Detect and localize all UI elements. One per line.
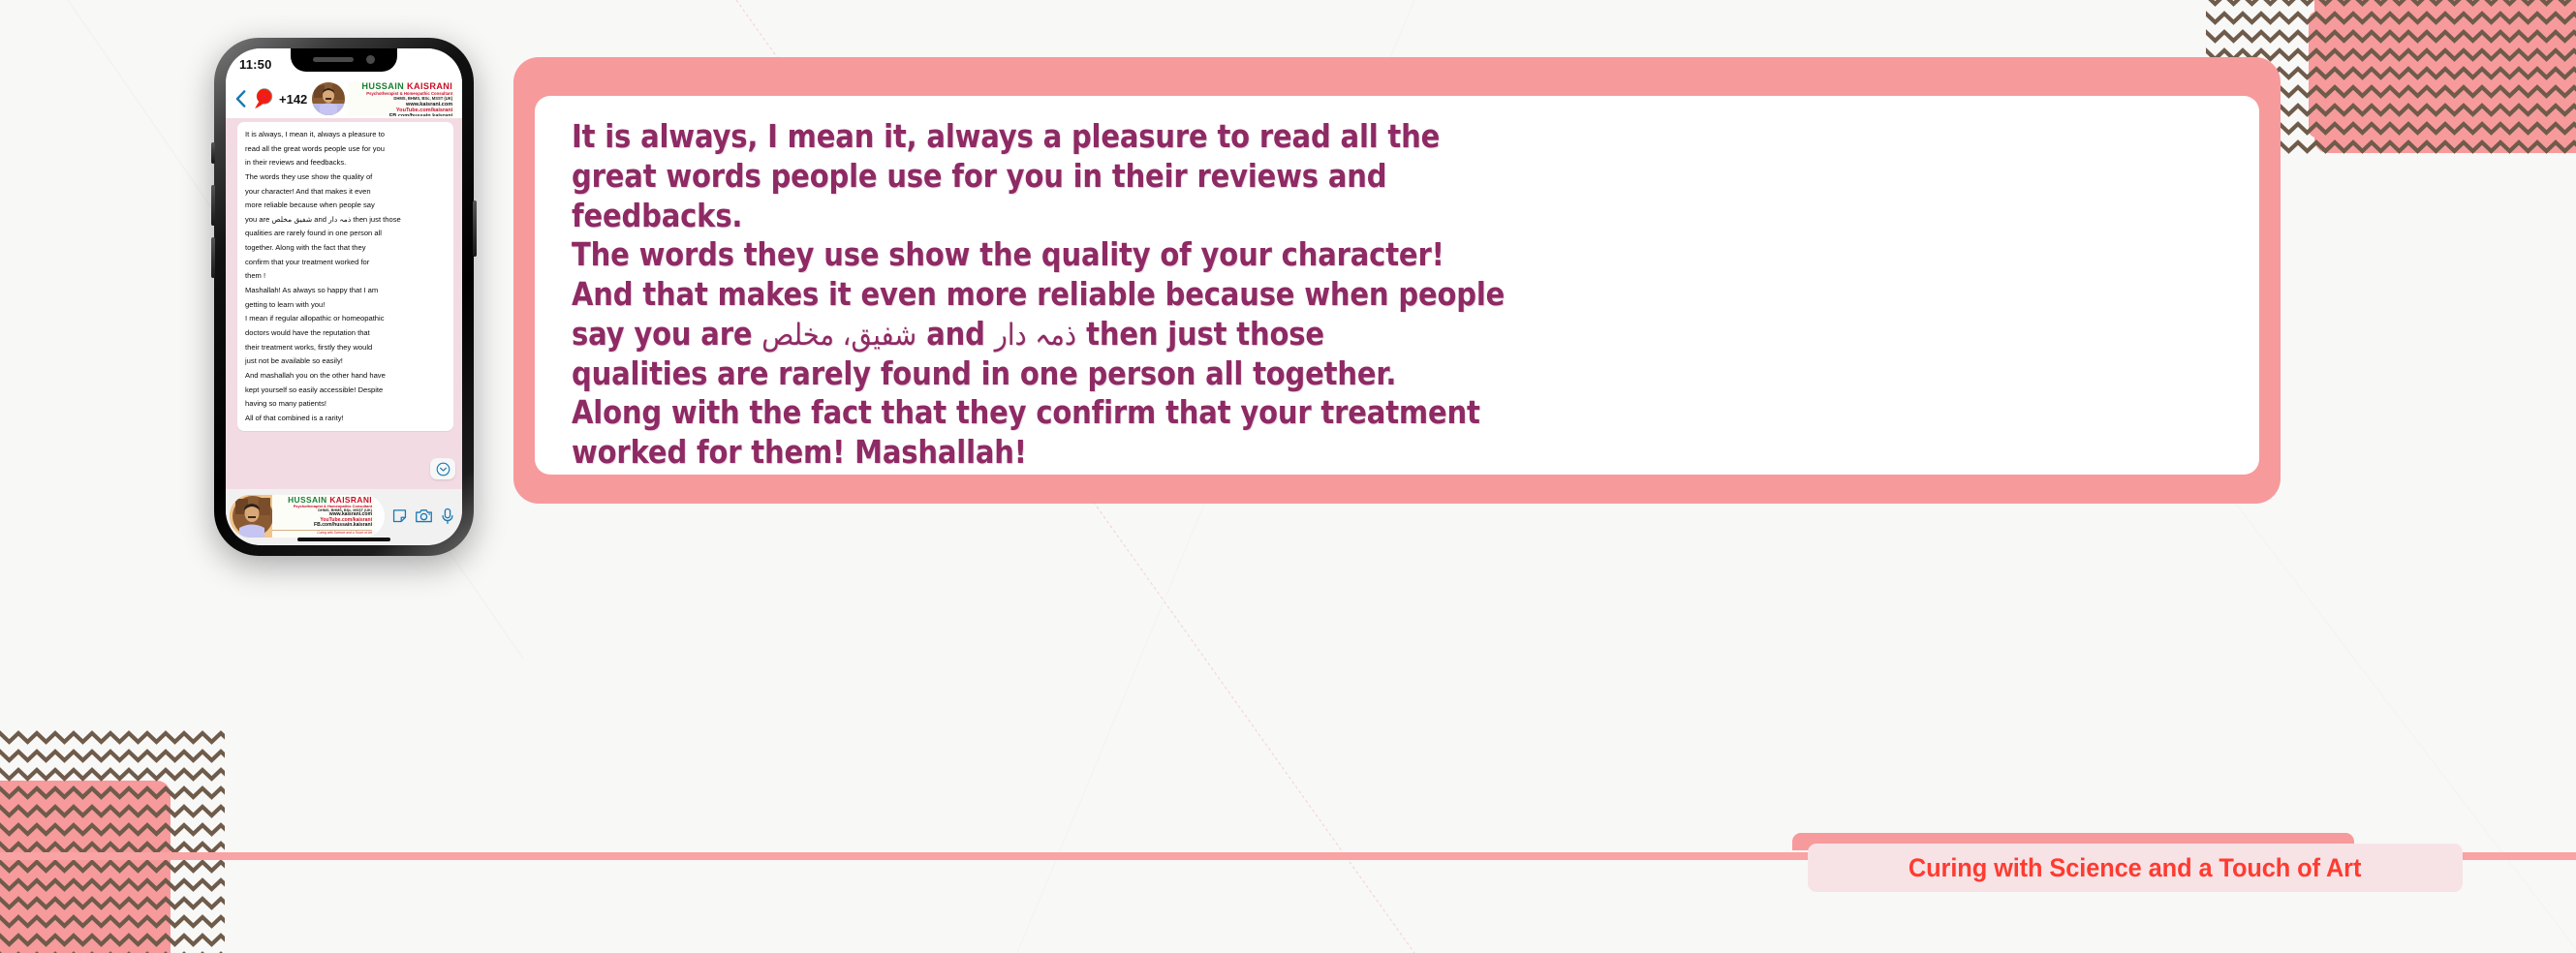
quote-urdu-2: ذمہ دار: [995, 318, 1076, 353]
microphone-icon: [441, 507, 454, 525]
sticker-button[interactable]: [389, 507, 409, 526]
zigzag-pattern-bottom-left: [0, 730, 225, 953]
chevron-left-icon: [235, 90, 246, 108]
quote-line: And that makes it even more reliable bec…: [572, 275, 2217, 315]
phone-notch: [291, 48, 397, 72]
bizcard-facebook: FB.com/hussain.kaisrani: [348, 113, 453, 116]
bizcard-name-last: KAISRANI: [407, 81, 452, 91]
status-time: 11:50: [239, 57, 272, 72]
composer-bizcard-facebook: FB.com/hussain.kaisrani: [272, 523, 372, 529]
message-bubble: It is always, I mean it, always a pleasu…: [237, 122, 453, 431]
quote-post: then just those: [1076, 315, 1324, 353]
bizcard-degrees: DHMS, BHMS, BSc, MSST (UK): [348, 97, 453, 101]
home-indicator: [297, 538, 390, 541]
back-button[interactable]: [232, 86, 249, 111]
quote-line-mixed: say you are شفیق، مخلص and ذمہ دار then …: [572, 315, 2217, 354]
front-camera-icon: [366, 55, 375, 64]
quote-mid: and: [916, 315, 995, 353]
chat-header: +142: [226, 79, 462, 118]
message-text: It is always, I mean it, always a pleasu…: [245, 128, 446, 425]
bizcard-name-first: HUSSAIN: [362, 81, 405, 91]
quote-line: It is always, I mean it, always a pleasu…: [572, 117, 2217, 157]
location-pin-icon: [250, 86, 275, 111]
camera-button[interactable]: [414, 507, 433, 526]
group-member-count: +142: [279, 92, 307, 107]
tagline-banner: Curing with Science and a Touch of Art: [1808, 844, 2463, 892]
message-input[interactable]: HUSSAIN KAISRANI Psychotherapist & Homeo…: [230, 495, 385, 538]
phone-screen: 11:50: [226, 48, 462, 545]
quote-text: It is always, I mean it, always a pleasu…: [572, 117, 2217, 473]
phone-frame: 11:50: [214, 38, 474, 556]
composer-bizcard-name-first: HUSSAIN: [288, 495, 327, 505]
quote-line: qualities are rarely found in one person…: [572, 354, 2217, 394]
phone-volume-up-button[interactable]: [211, 185, 215, 226]
quote-urdu-1: شفیق، مخلص: [761, 318, 916, 353]
quote-line: Along with the fact that they confirm th…: [572, 393, 2217, 433]
avatar[interactable]: [312, 82, 345, 115]
sticker-icon: [391, 507, 408, 524]
quote-pre: say you are: [572, 315, 761, 353]
composer-bizcard-tagline: Curing with Science and a Touch of Art: [272, 532, 372, 536]
microphone-button[interactable]: [438, 507, 457, 526]
chevron-down-circle-icon: [436, 462, 450, 476]
tagline-text: Curing with Science and a Touch of Art: [1909, 853, 2361, 883]
phone-power-button[interactable]: [473, 200, 477, 257]
quote-card: It is always, I mean it, always a pleasu…: [513, 57, 2281, 504]
phone-silent-switch[interactable]: [211, 142, 215, 164]
quote-card-inner: It is always, I mean it, always a pleasu…: [535, 96, 2259, 475]
page-root: 11:50: [0, 0, 2576, 953]
quote-line: worked for them! Mashallah!: [572, 433, 2217, 473]
composer-attached-business-card: HUSSAIN KAISRANI Psychotherapist & Homeo…: [230, 495, 375, 538]
scroll-to-bottom-button[interactable]: [430, 458, 455, 479]
phone-volume-down-button[interactable]: [211, 237, 215, 278]
composer-bizcard-name-last: KAISRANI: [329, 495, 372, 505]
earpiece-speaker-icon: [313, 57, 354, 62]
quote-line: The words they use show the quality of y…: [572, 235, 2217, 275]
message-composer: HUSSAIN KAISRANI Psychotherapist & Homeo…: [226, 489, 462, 545]
quote-line: feedbacks.: [572, 197, 2217, 236]
chat-message-list[interactable]: It is always, I mean it, always a pleasu…: [226, 118, 462, 489]
quote-line: great words people use for you in their …: [572, 157, 2217, 197]
phone-mockup: 11:50: [214, 38, 474, 556]
status-bar: 11:50: [226, 48, 462, 79]
camera-icon: [415, 507, 433, 524]
header-business-card: HUSSAIN KAISRANI Psychotherapist & Homeo…: [348, 81, 456, 116]
